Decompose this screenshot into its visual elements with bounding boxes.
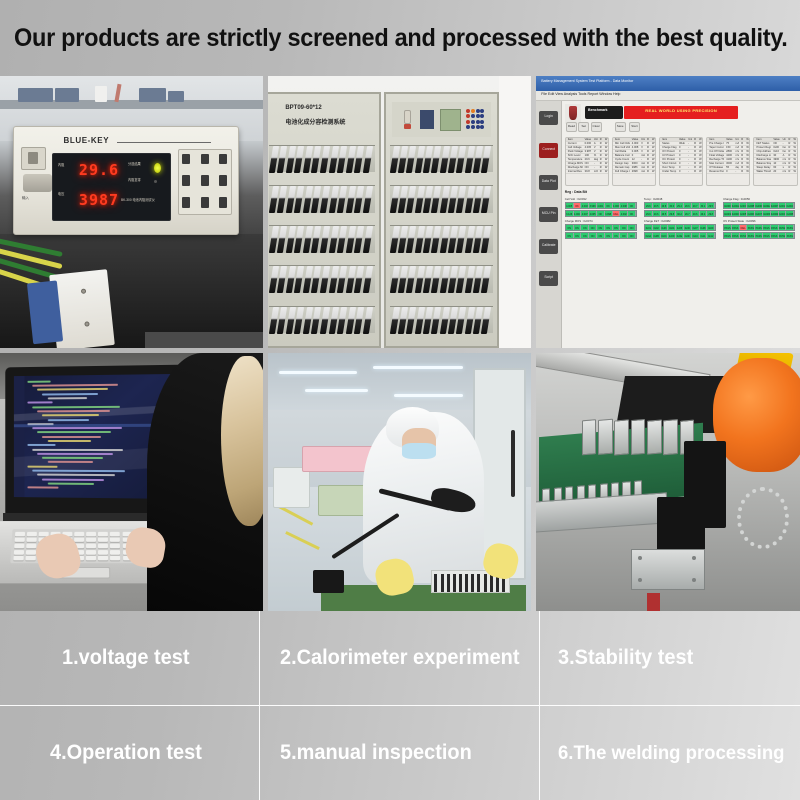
- secondary-indicator: [154, 180, 157, 183]
- table-row[interactable]: Reserve Param0-RW: [707, 170, 749, 174]
- keyboard-key[interactable]: [15, 532, 25, 537]
- result-cell: PASS: [724, 225, 732, 230]
- table-cell: W: [603, 142, 608, 145]
- table-cell: Status: [660, 142, 677, 145]
- result-cell: 0x11: [700, 233, 708, 238]
- table-highlight: [145, 332, 263, 348]
- table-cell: Internal Res: [566, 170, 583, 173]
- result-cell: OK: [605, 203, 613, 208]
- table-cell: W: [697, 162, 702, 165]
- table-cell: W: [792, 150, 797, 153]
- result-bar: 0x00FF0x00A00x00C10x00B20x00D30x00E40x00…: [723, 202, 795, 209]
- header-banner: Our products are strictly screened and p…: [0, 0, 800, 76]
- result-cell: 30.1: [700, 203, 708, 208]
- table-cell: Taper Current: [707, 146, 724, 149]
- result-cell: PASS: [732, 225, 740, 230]
- battery-slot: [481, 226, 491, 253]
- result-cell: 0x00E4: [763, 203, 771, 208]
- code-line: [47, 397, 87, 399]
- cabinet-right: [384, 92, 500, 348]
- fixture-screw: [80, 288, 85, 293]
- toolbar-button-clear[interactable]: Clear: [591, 122, 602, 132]
- toolbar-button-label: Start: [630, 124, 639, 128]
- result-bar: ONONONONONONONONON: [565, 232, 637, 239]
- red-banner: REAL WORLD USING PRECISION: [624, 106, 738, 119]
- result-cell: 4.006: [613, 203, 621, 208]
- keyboard-key[interactable]: [14, 538, 24, 543]
- toolbar-button-start[interactable]: Start: [629, 122, 640, 132]
- code-line: [32, 384, 118, 387]
- keyboard-key[interactable]: [98, 544, 108, 549]
- table-header-cell: W: [650, 138, 655, 141]
- table-cell: 75: [724, 142, 733, 145]
- table-cell: Charge Flag: [660, 146, 677, 149]
- result-cell: ON: [620, 225, 628, 230]
- table-cell: 3000: [724, 162, 733, 165]
- fixture-screw: [84, 321, 89, 326]
- green-tote-bin: [318, 485, 368, 516]
- software-menu-bar[interactable]: File Edit View Analysis Tools Report Win…: [536, 91, 800, 101]
- keyboard-key[interactable]: [110, 556, 120, 561]
- result-cell: 29.5: [661, 211, 669, 216]
- table-cell: W: [603, 162, 608, 165]
- result-cell: 29.7: [692, 203, 700, 208]
- navigation-dpad[interactable]: [481, 114, 489, 125]
- cabinet-name-label: 电池化成分容检测系统: [285, 119, 345, 128]
- component-part: [453, 586, 456, 592]
- panel-indicator: [476, 109, 480, 113]
- code-line: [27, 444, 55, 446]
- code-line: [47, 418, 89, 420]
- keyboard-key[interactable]: [86, 544, 96, 549]
- table-cell: Cycle Count: [613, 158, 630, 161]
- result-group: Cell Volt : 0x00324.005OK4.0033.9994.001…: [565, 197, 637, 218]
- table-cell: 4.008: [630, 146, 639, 149]
- code-line: [27, 402, 52, 404]
- component-part: [465, 586, 468, 592]
- toolbar-button-save[interactable]: Save: [615, 122, 626, 132]
- banner-text: REAL WORLD USING PRECISION: [624, 108, 738, 113]
- result-cell: 29.6: [684, 203, 692, 208]
- result-cell: 4.001: [597, 203, 605, 208]
- software-title-bar: Battery Management System Test Platform …: [536, 76, 800, 91]
- table-cell: Charge MOS: [566, 162, 583, 165]
- table-cell: W: [697, 166, 702, 169]
- table-cell: 60: [771, 166, 780, 169]
- result-cell: 0x0E: [676, 233, 684, 238]
- software-sidebar[interactable]: LoginConnectData PlotMCU PinCalibrateScr…: [536, 101, 562, 348]
- keyboard-key[interactable]: [86, 538, 96, 543]
- key-esc[interactable]: [219, 154, 227, 165]
- battery-bay: [269, 265, 374, 293]
- keyboard-key[interactable]: [98, 538, 108, 543]
- background-box: [139, 88, 165, 102]
- result-cell: 3.999: [589, 203, 597, 208]
- table-cell: IDLE: [677, 142, 686, 145]
- table-row[interactable]: Internal Res39.8mOhmRW: [566, 170, 608, 174]
- result-group-label: Charge FET : 0x0082: [644, 219, 716, 223]
- key-set[interactable]: [182, 154, 190, 165]
- table-cell: W: [744, 162, 749, 165]
- keyboard-key[interactable]: [86, 550, 96, 555]
- keyboard-key[interactable]: [27, 532, 37, 537]
- keyboard-key[interactable]: [26, 550, 36, 555]
- sort-result-label: 分选结果: [128, 162, 141, 166]
- welded-module: [630, 420, 645, 456]
- control-panel[interactable]: [392, 102, 490, 137]
- table-cell: Full Charge Cap: [613, 170, 630, 173]
- table-cell: 4200: [724, 154, 733, 157]
- device-keypad[interactable]: [178, 149, 232, 215]
- person-hair: [221, 356, 263, 526]
- table-cell: Over Temp: [660, 166, 677, 169]
- panel-indicator: [480, 125, 484, 129]
- table-cell: 0: [677, 162, 686, 165]
- result-group: Charge FET : 0x00820x010x020x030x040x050…: [644, 219, 716, 240]
- sidebar-item-label: Connect: [539, 147, 558, 151]
- result-cell: 30.2: [676, 211, 684, 216]
- worker-mask: [402, 443, 436, 458]
- battery-slot: [320, 146, 330, 173]
- result-cell: ON: [613, 233, 621, 238]
- result-cell: 4.005: [566, 203, 574, 208]
- result-cell: 29.8: [661, 203, 669, 208]
- keyboard-key[interactable]: [110, 544, 120, 549]
- table-cell: Temperature: [566, 158, 583, 161]
- table-cell: Short Circuit: [660, 162, 677, 165]
- code-line: [27, 486, 58, 488]
- sidebar-item-calibrate[interactable]: Calibrate: [539, 239, 558, 254]
- table-cell: 3900: [771, 158, 780, 161]
- code-line: [37, 431, 111, 433]
- ceiling-light: [305, 389, 368, 392]
- keyboard-key[interactable]: [13, 556, 23, 561]
- register-results-area: Reg : Data Bit Cell Volt : 0x00324.005OK…: [565, 190, 798, 244]
- cable-chain: [737, 487, 790, 549]
- result-bar: PASSPASSFAILPASSPASSPASSPASSPASSPASS: [723, 224, 795, 231]
- result-cell: 29.8: [707, 211, 715, 216]
- result-group: Charge MOS : 0x0074ONONONONONONONONONONO…: [565, 219, 637, 240]
- sidebar-item-mcu-pin[interactable]: MCU Pin: [539, 207, 558, 222]
- result-bar: 29.629.529.830.029.429.629.730.129.5: [644, 202, 716, 209]
- toolbar-button-label: Save: [616, 124, 625, 128]
- toolbar-button-label: Set: [579, 124, 588, 128]
- table-cell: ON: [583, 166, 592, 169]
- battery-bay: [390, 225, 493, 253]
- brand-button-label: Benchmark: [588, 108, 608, 112]
- result-cell: 4.003: [581, 203, 589, 208]
- keyboard-key[interactable]: [98, 550, 108, 555]
- keyboard-key[interactable]: [98, 556, 108, 561]
- result-group: Charge Flag : 0x00560x00FF0x00A00x00C10x…: [723, 197, 795, 218]
- result-cell: 0x00A0: [732, 203, 740, 208]
- window-title: Battery Management System Test Platform …: [541, 79, 633, 83]
- panel-indicator: [471, 120, 475, 124]
- result-bar: PASSPASSPASSPASSPASSPASSPASSPASSPASS: [723, 232, 795, 239]
- table-cell: W: [744, 170, 749, 173]
- table-cell: 0: [724, 170, 733, 173]
- battery-bay: [390, 265, 493, 293]
- result-cell: PASS: [786, 225, 794, 230]
- brand-underline: [117, 142, 211, 143]
- result-cell: 0x08: [700, 225, 708, 230]
- resistance-reset-label: 内阻复零: [128, 178, 141, 182]
- result-cell: ON: [597, 225, 605, 230]
- table-cell: W: [744, 154, 749, 157]
- caption-text: 6.The welding processing: [558, 742, 784, 765]
- keyboard-key[interactable]: [74, 538, 84, 543]
- result-cell: ON: [589, 225, 597, 230]
- table-cell: W: [697, 142, 702, 145]
- caption-calorimeter: 2.Calorimeter experiment: [260, 611, 539, 705]
- code-line: [32, 427, 121, 429]
- welding-head-block: [657, 497, 705, 554]
- result-cell: PASS: [740, 233, 748, 238]
- caption-text: 1.voltage test: [62, 646, 190, 670]
- key-right[interactable]: [219, 175, 227, 186]
- operation-test-photo: [0, 353, 263, 611]
- menu-items[interactable]: File Edit View Analysis Tools Report Win…: [541, 92, 620, 96]
- result-cell: 29.6: [653, 211, 661, 216]
- table-cell: Recharge Thr: [707, 158, 724, 161]
- result-cell: ON: [605, 233, 613, 238]
- table-cell: 150: [724, 146, 733, 149]
- table-row[interactable]: Wake Threshold20mVRW: [754, 170, 796, 174]
- result-cell: 0x02: [653, 225, 661, 230]
- table-cell: 0.000: [583, 142, 592, 145]
- result-cell: 0x0D: [668, 233, 676, 238]
- keyboard-key[interactable]: [110, 538, 120, 543]
- toolbar-button-label: Read: [567, 124, 576, 128]
- result-cell: 29.8: [668, 211, 676, 216]
- table-cell: W: [650, 150, 655, 153]
- brand-button[interactable]: Benchmark: [585, 106, 623, 119]
- table-header-cell: W: [792, 138, 797, 141]
- battery-slot: [320, 307, 330, 334]
- emergency-stop-button[interactable]: [404, 124, 411, 130]
- result-cell: PASS: [763, 233, 771, 238]
- result-cell: PASS: [779, 225, 787, 230]
- result-cell: 0x0038: [724, 211, 732, 216]
- voltage-readout: 3987: [79, 191, 119, 209]
- code-line: [27, 380, 50, 382]
- result-cell: 4.000: [574, 211, 582, 216]
- key-enter[interactable]: [201, 175, 209, 186]
- table-header-cell: Value: [583, 138, 592, 141]
- result-cell: ON: [605, 225, 613, 230]
- welding-photo: [536, 353, 800, 611]
- result-cell: 4.007: [581, 211, 589, 216]
- result-cell: PASS: [732, 233, 740, 238]
- toolbar-button-set[interactable]: Set: [578, 122, 589, 132]
- result-group-label: Temp : 0x0048: [644, 197, 716, 201]
- table-cell: 39.8: [583, 170, 592, 173]
- result-cell: ON: [620, 233, 628, 238]
- caption-operation-test: 4.Operation test: [0, 706, 259, 800]
- result-cell: 0x00B2: [747, 203, 755, 208]
- panel-indicator: [480, 109, 484, 113]
- panel-indicator: [471, 125, 475, 129]
- table-cell: Cell Voltage: [566, 146, 583, 149]
- sidebar-item-data-plot[interactable]: Data Plot: [539, 175, 558, 190]
- keyboard-key[interactable]: [26, 538, 36, 543]
- table-cell: Balance Start: [754, 158, 771, 161]
- result-cell: 0x0F: [684, 233, 692, 238]
- plate-bolt: [638, 556, 642, 560]
- battery-slot: [481, 186, 491, 213]
- key-f2[interactable]: [219, 197, 227, 208]
- table-cell: W: [697, 154, 702, 157]
- result-cell: 29.4: [700, 211, 708, 216]
- table-cell: OK: [771, 142, 780, 145]
- key-left[interactable]: [182, 175, 190, 186]
- component-part: [477, 586, 480, 592]
- work-bench: [273, 467, 310, 508]
- result-cell: PASS: [747, 225, 755, 230]
- result-cell: 0x0A: [645, 233, 653, 238]
- table-header-cell: Item: [566, 138, 583, 141]
- parameter-table: ItemValueUnitRWCurrent0.000ARWCell Volta…: [565, 137, 609, 186]
- table-cell: 2986: [630, 166, 639, 169]
- table-cell: W: [650, 146, 655, 149]
- cabinet-left: BPT09-60*12 电池化成分容检测系统: [268, 92, 381, 348]
- welded-module: [647, 420, 662, 456]
- fixture-blue-body: [26, 280, 62, 344]
- table-cell: 4.005: [583, 146, 592, 149]
- sidebar-item-label: MCU Pin: [539, 211, 558, 215]
- table-cell: W: [650, 142, 655, 145]
- parameter-table: ItemValueUnitRWPre Charge Current75mARWT…: [706, 137, 750, 186]
- keyboard-key[interactable]: [98, 532, 108, 537]
- page-title: Our products are strictly screened and p…: [14, 24, 788, 53]
- keyboard-key[interactable]: [74, 532, 84, 537]
- component-part: [484, 586, 487, 592]
- battery-slot: [362, 226, 372, 253]
- result-cell: 0x10: [692, 233, 700, 238]
- magnifier-lamp-base: [313, 570, 345, 593]
- caption-text: 3.Stability test: [558, 646, 693, 670]
- background-box: [18, 88, 52, 102]
- rack-handle: [511, 430, 515, 497]
- device-brand-label: BLUE-KEY: [63, 136, 109, 145]
- battery-slot: [481, 307, 491, 334]
- table-cell: Balance Stop: [754, 162, 771, 165]
- table-cell: 0.005: [630, 150, 639, 153]
- parameter-tables: ItemValueUnitRWCurrent0.000ARWCell Volta…: [565, 137, 798, 186]
- result-cell: 0x05: [676, 225, 684, 230]
- table-cell: Wake Threshold: [754, 170, 771, 173]
- result-cell: 0x07: [692, 225, 700, 230]
- table-cell: SOC Level: [566, 154, 583, 157]
- table-cell: Cut Off Voltage: [707, 150, 724, 153]
- toolbar-button-read[interactable]: Read: [566, 122, 577, 132]
- table-cell: W: [792, 154, 797, 157]
- table-row[interactable]: Under Temp0-RW: [660, 170, 702, 174]
- code-line: [37, 388, 107, 391]
- result-cell: ON: [574, 225, 582, 230]
- key-down[interactable]: [201, 197, 209, 208]
- input-socket: [21, 147, 46, 170]
- table-cell: 29.6: [583, 158, 592, 161]
- table-cell: Cell Delta: [613, 150, 630, 153]
- result-group: OV Protect State : 0x0096PASSPASSFAILPAS…: [723, 219, 795, 240]
- sidebar-item-login[interactable]: Login: [539, 111, 558, 126]
- code-line: [42, 436, 101, 438]
- result-bar: 4.005OK4.0033.9994.001OK4.0064.008OK: [565, 202, 637, 209]
- control-knob[interactable]: [404, 110, 411, 123]
- back-wall: [499, 76, 531, 348]
- keyboard-key[interactable]: [26, 544, 36, 549]
- person-silhouette: [147, 353, 263, 611]
- table-cell: Min Cell Voltage: [613, 142, 630, 145]
- keyboard-key[interactable]: [86, 556, 96, 561]
- result-cell: PASS: [771, 233, 779, 238]
- keyboard-key[interactable]: [25, 556, 35, 561]
- table-cell: Max Current: [707, 162, 724, 165]
- table-cell: W: [792, 142, 797, 145]
- table-cell: W: [792, 162, 797, 165]
- table-cell: Discharge MOS: [566, 166, 583, 169]
- table-cell: Design Cap: [613, 162, 630, 165]
- resistance-tester-device: BLUE-KEY 输入 内阻 电压 分选结果 内阻复零 BK-300 电池内阻测…: [13, 126, 239, 235]
- input-port-label: 输入: [22, 196, 29, 201]
- keyboard-key[interactable]: [110, 532, 120, 537]
- panel-indicator: [466, 109, 470, 113]
- code-line: [37, 474, 114, 477]
- keyboard-key[interactable]: [14, 544, 24, 549]
- result-cell: 0x0B: [653, 233, 661, 238]
- result-cell: ON: [613, 225, 621, 230]
- keyboard-key[interactable]: [86, 532, 96, 537]
- table-header-cell: Item: [707, 138, 724, 141]
- result-cell: PASS: [786, 233, 794, 238]
- keyboard-key[interactable]: [14, 550, 24, 555]
- battery-bay: [269, 185, 374, 213]
- table-cell: Under Temp: [660, 170, 677, 173]
- table-cell: Balance Current: [613, 154, 630, 157]
- result-cell: 0x00F5: [771, 203, 779, 208]
- panel-indicator: [471, 114, 475, 118]
- table-cell: W: [650, 166, 655, 169]
- welded-module: [581, 420, 596, 456]
- sidebar-item-connect[interactable]: Connect: [539, 143, 558, 158]
- table-row[interactable]: Full Charge Cap2998mAhRW: [613, 170, 655, 174]
- key-f1[interactable]: [182, 197, 190, 208]
- result-cell: 29.5: [707, 203, 715, 208]
- battery-test-fixture: [49, 269, 115, 348]
- result-cell: 0x00C1: [740, 203, 748, 208]
- result-cell: 0x09: [707, 225, 715, 230]
- key-up[interactable]: [201, 154, 209, 165]
- table-cell: Sleep Delay: [754, 166, 771, 169]
- sidebar-item-script[interactable]: Script: [539, 271, 558, 286]
- result-cell: PASS: [747, 233, 755, 238]
- result-cell: 4.005: [589, 211, 597, 216]
- result-cell-fail: OK: [574, 203, 582, 208]
- battery-bay: [269, 145, 374, 173]
- result-cell: 0x009E: [771, 211, 779, 216]
- component-part: [490, 586, 493, 592]
- voltage-test-photo: BLUE-KEY 输入 内阻 电压 分选结果 内阻复零 BK-300 电池内阻测…: [0, 76, 263, 348]
- ceiling-light: [373, 366, 462, 369]
- result-cell: 0x005A: [740, 211, 748, 216]
- code-line: [27, 465, 57, 467]
- table-cell: 0: [677, 158, 686, 161]
- keyboard-key[interactable]: [110, 550, 120, 555]
- table-header-cell: W: [697, 138, 702, 141]
- table-cell: W: [697, 150, 702, 153]
- result-bar: ONONONONONONONONON: [565, 224, 637, 231]
